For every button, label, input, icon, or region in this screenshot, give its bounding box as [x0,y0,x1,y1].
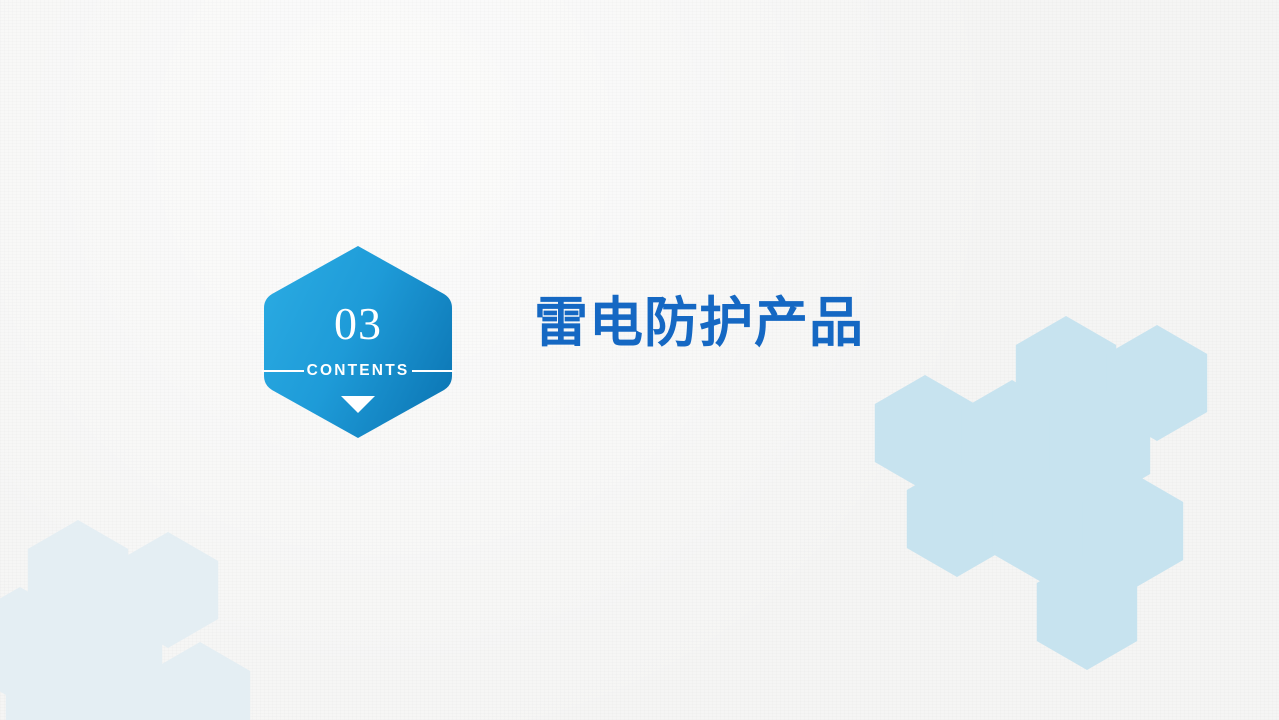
triangle-down-icon [341,396,375,413]
page-title: 雷电防护产品 [534,292,864,354]
section-badge: 03 CONTENTS [262,244,454,440]
badge-number: 03 [262,300,454,348]
hexagon-shape [1107,325,1207,441]
hexagon-shape [0,587,70,703]
hexagon-shape [118,532,218,648]
slide-canvas: 03 CONTENTS 雷电防护产品 [0,0,1279,720]
hexagon-shape [6,664,106,720]
hexagon-shape [907,461,1007,577]
hexagon-shape [993,467,1093,583]
hexagon-shape [875,375,975,491]
hexagon-shape [98,672,198,720]
honeycomb-decoration-left [0,0,1279,720]
hexagon-shape [1050,387,1150,503]
hexagon-shape [1083,473,1183,589]
background-texture [0,0,1279,720]
hexagon-shape [28,520,128,636]
honeycomb-decoration-right [0,0,1279,720]
hexagon-shape [962,380,1062,496]
hexagon-shape [1016,316,1116,432]
hexagon-shape [62,597,162,713]
hexagon-shape [150,642,250,720]
badge-caption: CONTENTS [262,358,454,384]
hexagon-shape [1037,554,1137,670]
